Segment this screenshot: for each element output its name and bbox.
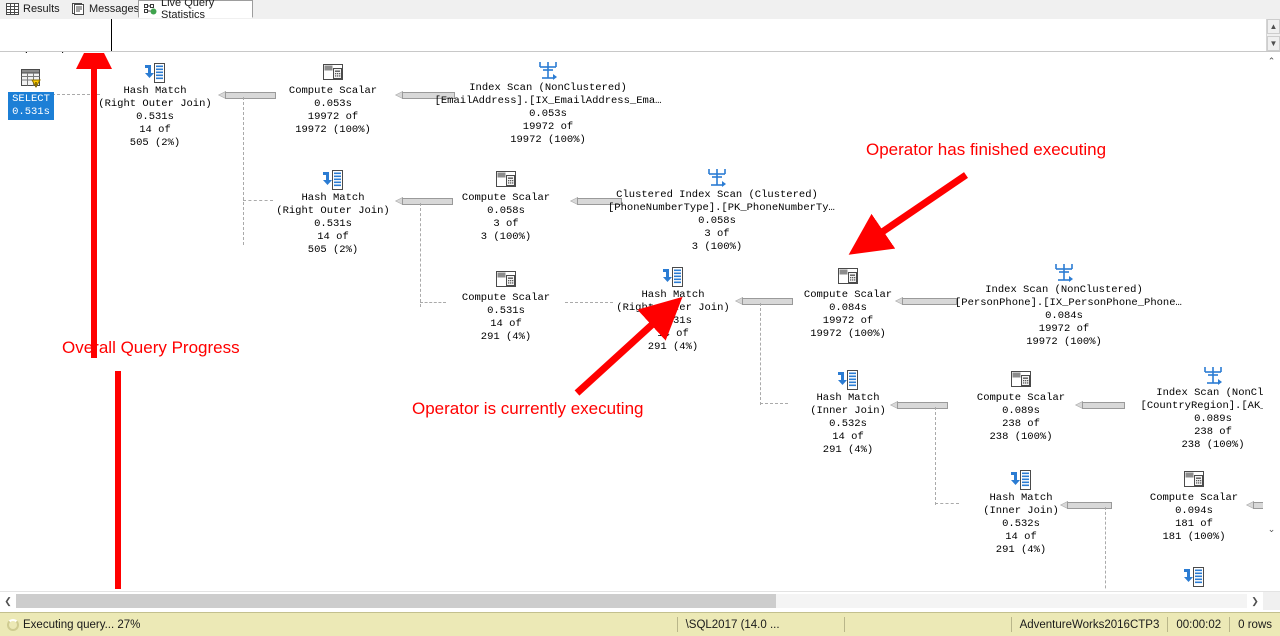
index-scan-icon (1133, 363, 1280, 387)
hash-match-icon (90, 61, 220, 85)
operator-rows: 181 of (1133, 518, 1255, 531)
operator-name: Hash Match (787, 392, 909, 405)
operator-time: 0.531s (445, 305, 567, 318)
result-grid-warning-icon (5, 68, 57, 92)
operator-index-scan-personphone[interactable]: Index Scan (NonClustered) [PersonPhone].… (955, 260, 1173, 349)
operator-estimate: 505 (2%) (90, 137, 220, 150)
operator-rows: 14 of (787, 431, 909, 444)
operator-compute-scalar-6[interactable]: Compute Scalar 0.094s 181 of 181 (100%) (1133, 468, 1255, 544)
compute-scalar-icon (272, 61, 394, 85)
operator-rows: 14 of (268, 231, 398, 244)
plan-horizontal-scrollbar[interactable]: ❮ ❯ (0, 591, 1280, 611)
anno-overall-progress: Overall Query Progress (62, 338, 240, 358)
operator-estimate: 19972 (100%) (787, 328, 909, 341)
status-elapsed-time: 00:00:02 (1168, 619, 1229, 631)
operator-subtitle: (Inner Join) (960, 505, 1082, 518)
live-stats-icon (144, 3, 157, 15)
operator-subtitle: [PhoneNumberType].[PK_PhoneNumberTy… (608, 202, 826, 215)
operator-estimate: 291 (4%) (787, 444, 909, 457)
operator-estimate: 291 (4%) (960, 544, 1082, 557)
operator-rows: 14 of (608, 328, 738, 341)
operator-subtitle: [CountryRegion].[AK_Cou (1133, 400, 1280, 413)
operator-time: 0.094s (1133, 505, 1255, 518)
status-server: \SQL2017 (14.0 ... (678, 619, 844, 631)
operator-rows: 238 of (1133, 426, 1280, 439)
tab-live-query-statistics-label: Live Query Statistics (161, 0, 245, 21)
hash-match-icon (1133, 565, 1255, 589)
tab-strip: Results Messages Live Query Statistics (0, 0, 1280, 20)
operator-time: 0.053s (272, 98, 394, 111)
compute-scalar-icon (960, 368, 1082, 392)
operator-estimate: 3 (100%) (608, 241, 826, 254)
operator-time: 0.058s (445, 205, 567, 218)
query-header-scrollbar[interactable]: ▲ ▼ (1266, 19, 1280, 51)
operator-compute-scalar-5[interactable]: Compute Scalar 0.089s 238 of 238 (100%) (960, 368, 1082, 444)
operator-rows: 19972 of (955, 323, 1173, 336)
operator-time: 0.089s (1133, 413, 1280, 426)
chevron-right-icon[interactable]: ❯ (1247, 592, 1263, 610)
operator-subtitle: (Right Outer Join) (90, 98, 220, 111)
operator-subtitle: [EmailAddress].[IX_EmailAddress_Ema… (425, 95, 671, 108)
operator-time: 0.531s (90, 111, 220, 124)
connector-dashed (420, 203, 421, 307)
tab-results-label: Results (23, 3, 60, 15)
query-text-block[interactable]: Query 1: Query cost (relative to the bat… (113, 19, 1266, 51)
operator-hash-match-4[interactable]: Hash Match (Inner Join) 0.532s 14 of 291… (787, 368, 909, 457)
index-scan-icon (608, 165, 826, 189)
anno-operator-finished: Operator has finished executing (866, 140, 1106, 160)
operator-hash-match-5[interactable]: Hash Match (Inner Join) 0.532s 14 of 291… (960, 468, 1082, 557)
operator-select[interactable]: SELECT 0.531s (5, 68, 57, 120)
tab-messages-label: Messages (89, 3, 139, 15)
operator-index-scan-emailaddress[interactable]: Index Scan (NonClustered) [EmailAddress]… (425, 58, 671, 147)
arrow-operator-finished (866, 175, 966, 243)
data-flow-arrow (1075, 401, 1125, 410)
operator-rows: 14 of (90, 124, 220, 137)
operator-name: Hash Match (90, 85, 220, 98)
operator-subtitle: [PersonPhone].[IX_PersonPhone_Phone… (955, 297, 1173, 310)
operator-estimate: 19972 (100%) (955, 336, 1173, 349)
operator-compute-scalar-1[interactable]: Compute Scalar 0.053s 19972 of 19972 (10… (272, 61, 394, 137)
tab-live-query-statistics[interactable]: Live Query Statistics (138, 0, 253, 18)
operator-name: Clustered Index Scan (Clustered) (608, 189, 826, 202)
operator-compute-scalar-4[interactable]: Compute Scalar 0.084s 19972 of 19972 (10… (787, 265, 909, 341)
estimated-query-progress: Estimated query progress:27% (0, 19, 112, 51)
operator-rows: 14 of (445, 318, 567, 331)
select-label: SELECT (12, 93, 50, 106)
hash-match-icon (960, 468, 1082, 492)
operator-rows: 19972 of (272, 111, 394, 124)
hash-match-icon (787, 368, 909, 392)
operator-estimate: 238 (100%) (960, 431, 1082, 444)
operator-time: 0.531s (268, 218, 398, 231)
chevron-up-icon[interactable]: ⌃ (1263, 53, 1280, 70)
operator-compute-scalar-3[interactable]: Compute Scalar 0.531s 14 of 291 (4%) (445, 268, 567, 344)
scroll-up-icon[interactable]: ▲ (1267, 19, 1280, 34)
tab-results[interactable]: Results (0, 0, 66, 18)
operator-name: Compute Scalar (445, 192, 567, 205)
operator-estimate: 291 (4%) (608, 341, 738, 354)
operator-time: 0.084s (787, 302, 909, 315)
operator-rows: 238 of (960, 418, 1082, 431)
status-divider (844, 617, 845, 632)
operator-time: 0.532s (787, 418, 909, 431)
connector-dashed (935, 503, 959, 504)
operator-name: Hash Match (960, 492, 1082, 505)
hash-match-icon (268, 168, 398, 192)
scroll-down-icon[interactable]: ▼ (1267, 36, 1280, 51)
operator-hash-match-6[interactable]: Hash Match (1133, 565, 1255, 589)
operator-subtitle: (Right Outer Join) (608, 302, 738, 315)
compute-scalar-icon (445, 268, 567, 292)
connector-dashed (420, 302, 446, 303)
chevron-down-icon[interactable]: ⌄ (1263, 521, 1280, 538)
operator-estimate: 19972 (100%) (425, 134, 671, 147)
status-database: AdventureWorks2016CTP3 (1012, 619, 1168, 631)
connector-dashed (243, 97, 244, 245)
connector-dashed (760, 403, 788, 404)
operator-time: 0.058s (608, 215, 826, 228)
operator-rows: 3 of (445, 218, 567, 231)
index-scan-icon (425, 58, 671, 82)
connector-dashed (760, 303, 761, 405)
operator-time: 0.084s (955, 310, 1173, 323)
grid-icon (6, 3, 19, 15)
execution-plan-canvas[interactable]: SELECT 0.531s Hash Match (Right Outer Jo… (0, 53, 1280, 589)
operator-hash-match-3[interactable]: Hash Match (Right Outer Join) 0.531s 14 … (608, 265, 738, 354)
connector-dashed (1105, 507, 1106, 589)
select-node-badge[interactable]: SELECT 0.531s (8, 92, 54, 120)
connector-dashed (935, 407, 936, 505)
operator-name: Index Scan (NonClu (1133, 387, 1280, 400)
operator-rows: 3 of (608, 228, 826, 241)
status-row-count: 0 rows (1230, 619, 1280, 631)
operator-index-scan-countryregion[interactable]: Index Scan (NonClu [CountryRegion].[AK_C… (1133, 363, 1280, 452)
operator-clustered-index-scan[interactable]: Clustered Index Scan (Clustered) [PhoneN… (608, 165, 826, 254)
status-executing-query: Executing query... 27% (23, 619, 148, 631)
plan-vertical-scrollbar[interactable]: ⌃ ⌄ (1263, 53, 1280, 591)
operator-estimate: 19972 (100%) (272, 124, 394, 137)
operator-estimate: 238 (100%) (1133, 439, 1280, 452)
operator-rows: 14 of (960, 531, 1082, 544)
compute-scalar-icon (787, 265, 909, 289)
operator-time: 0.532s (960, 518, 1082, 531)
data-flow-arrow (218, 91, 276, 100)
operator-estimate: 3 (100%) (445, 231, 567, 244)
index-scan-icon (955, 260, 1173, 284)
operator-name: Compute Scalar (960, 392, 1082, 405)
operator-subtitle: (Inner Join) (787, 405, 909, 418)
operator-estimate: 505 (2%) (268, 244, 398, 257)
hash-match-icon (608, 265, 738, 289)
operator-name: Index Scan (NonClustered) (425, 82, 671, 95)
operator-name: Compute Scalar (787, 289, 909, 302)
query-header: Estimated query progress:27% Query 1: Qu… (0, 19, 1280, 52)
spinner-icon (7, 619, 19, 631)
operator-subtitle: (Right Outer Join) (268, 205, 398, 218)
status-bar: Executing query... 27% \SQL2017 (14.0 ..… (0, 612, 1280, 636)
operator-compute-scalar-2[interactable]: Compute Scalar 0.058s 3 of 3 (100%) (445, 168, 567, 244)
operator-time: 0.053s (425, 108, 671, 121)
operator-estimate: 291 (4%) (445, 331, 567, 344)
operator-rows: 19972 of (787, 315, 909, 328)
operator-time: 0.089s (960, 405, 1082, 418)
message-icon (72, 3, 85, 15)
operator-estimate: 181 (100%) (1133, 531, 1255, 544)
scroll-corner (1263, 592, 1280, 610)
tab-messages[interactable]: Messages (66, 0, 138, 18)
operator-name: Compute Scalar (1133, 492, 1255, 505)
operator-name: Index Scan (NonClustered) (955, 284, 1173, 297)
operator-hash-match-1[interactable]: Hash Match (Right Outer Join) 0.531s 14 … (90, 61, 220, 150)
connector-dashed (565, 302, 613, 303)
operator-name: Compute Scalar (445, 292, 567, 305)
operator-name: Compute Scalar (272, 85, 394, 98)
compute-scalar-icon (1133, 468, 1255, 492)
operator-hash-match-2[interactable]: Hash Match (Right Outer Join) 0.531s 14 … (268, 168, 398, 257)
anno-operator-executing: Operator is currently executing (412, 399, 644, 419)
operator-rows: 19972 of (425, 121, 671, 134)
hscroll-thumb[interactable] (16, 594, 776, 608)
operator-name: Hash Match (608, 289, 738, 302)
chevron-left-icon[interactable]: ❮ (0, 592, 16, 610)
data-flow-arrow (735, 297, 793, 306)
operator-time: 0.531s (608, 315, 738, 328)
operator-name: Hash Match (268, 192, 398, 205)
select-cost: 0.531s (12, 106, 50, 119)
compute-scalar-icon (445, 168, 567, 192)
